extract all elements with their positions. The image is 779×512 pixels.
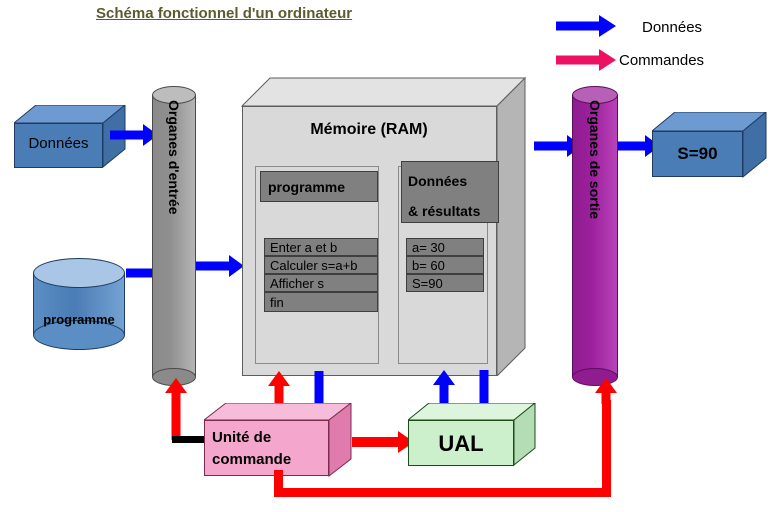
memory-data-panel-header-line2: & résultats bbox=[408, 196, 498, 226]
program-line: Enter a et b bbox=[264, 238, 378, 256]
alu-box: UAL bbox=[408, 403, 536, 469]
legend-command-arrow bbox=[556, 52, 616, 68]
legend-data-arrow bbox=[556, 18, 616, 34]
input-unit-cylinder: Organes d'entrée bbox=[152, 86, 196, 386]
input-unit-label: Organes d'entrée bbox=[166, 100, 182, 215]
memory-program-panel: programme Enter a et b Calculer s=a+b Af… bbox=[255, 166, 379, 364]
data-value-line: b= 60 bbox=[406, 256, 484, 274]
output-unit-cylinder: Organes de sortie bbox=[572, 86, 618, 386]
control-unit-label: Unité de commande bbox=[212, 427, 330, 471]
memory-data-panel: Données & résultats a= 30 b= 60 S=90 bbox=[398, 166, 488, 364]
control-unit-box: Unité de commande bbox=[204, 403, 352, 479]
program-line: Calculer s=a+b bbox=[264, 256, 378, 274]
memory-program-panel-header: programme bbox=[260, 171, 378, 202]
arrow-right-icon bbox=[556, 52, 616, 68]
program-database-cylinder: programme bbox=[33, 258, 125, 350]
data-value-line: S=90 bbox=[406, 274, 484, 292]
memory-block: Mémoire (RAM) programme Enter a et b Cal… bbox=[228, 76, 528, 376]
memory-data-panel-header-line1: Données bbox=[408, 166, 498, 196]
program-line: Afficher s bbox=[264, 274, 378, 292]
program-line: fin bbox=[264, 292, 378, 312]
arrow-right-icon bbox=[556, 18, 616, 34]
arrow-data-box-to-input-unit bbox=[110, 126, 158, 144]
output-result-box: S=90 bbox=[652, 112, 767, 180]
memory-title: Mémoire (RAM) bbox=[242, 121, 496, 139]
legend-label-commandes: Commandes bbox=[619, 52, 704, 69]
arrow-control-to-output-unit bbox=[595, 378, 617, 404]
program-database-label: programme bbox=[33, 312, 125, 327]
input-data-box-label: Données bbox=[14, 135, 103, 152]
output-result-label: S=90 bbox=[652, 144, 743, 164]
page-title: Schéma fonctionnel d'un ordinateur bbox=[96, 5, 352, 22]
command-path-segment-horizontal bbox=[274, 488, 611, 497]
command-path-segment-vertical-right bbox=[602, 400, 611, 492]
control-unit-label-line2: commande bbox=[212, 449, 330, 471]
diagram-canvas: Schéma fonctionnel d'un ordinateur Donné… bbox=[0, 0, 779, 512]
memory-data-panel-header: Données & résultats bbox=[401, 161, 499, 223]
arrow-control-to-alu bbox=[352, 432, 414, 452]
legend-label-donnees: Données bbox=[642, 19, 702, 36]
alu-label: UAL bbox=[408, 431, 514, 457]
data-value-line: a= 30 bbox=[406, 238, 484, 256]
output-unit-label: Organes de sortie bbox=[587, 100, 603, 219]
control-unit-label-line1: Unité de bbox=[212, 427, 330, 449]
arrow-control-to-input-unit bbox=[165, 378, 187, 440]
